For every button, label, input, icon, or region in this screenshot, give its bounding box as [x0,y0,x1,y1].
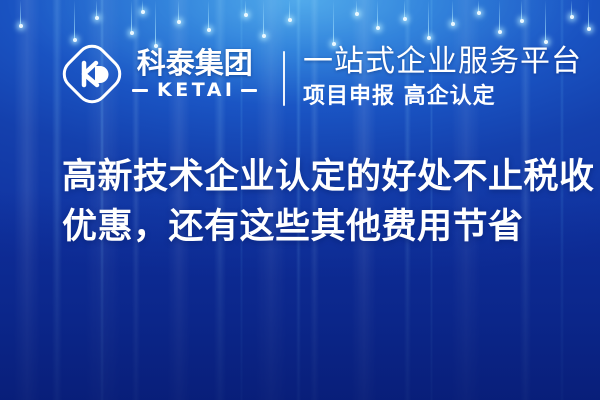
headline-line-2: 优惠，还有这些其他费用节省 [62,202,562,252]
brand-logo: 科泰集团 KETAI [62,44,257,104]
company-name-en: KETAI [154,81,235,100]
headline-line-1: 高新技术企业认定的好处不止税收 [62,152,562,202]
dash-right-icon [241,89,257,92]
banner-header: 科泰集团 KETAI 一站式企业服务平台 项目申报 高企认定 [0,44,600,114]
headline: 高新技术企业认定的好处不止税收 优惠，还有这些其他费用节省 [62,152,562,252]
kt-monogram-badge-icon [62,44,122,104]
promo-banner: 科泰集团 KETAI 一站式企业服务平台 项目申报 高企认定 高新技术企业认定的… [0,0,600,400]
tagline-main: 一站式企业服务平台 [303,44,582,80]
tagline-sub: 项目申报 高企认定 [303,83,582,109]
brand-logo-text: 科泰集团 KETAI [132,48,257,100]
company-name-cn: 科泰集团 [137,48,253,78]
company-name-en-row: KETAI [132,81,257,100]
tagline-block: 一站式企业服务平台 项目申报 高企认定 [303,44,582,109]
dash-left-icon [132,89,148,92]
header-divider [283,51,285,106]
